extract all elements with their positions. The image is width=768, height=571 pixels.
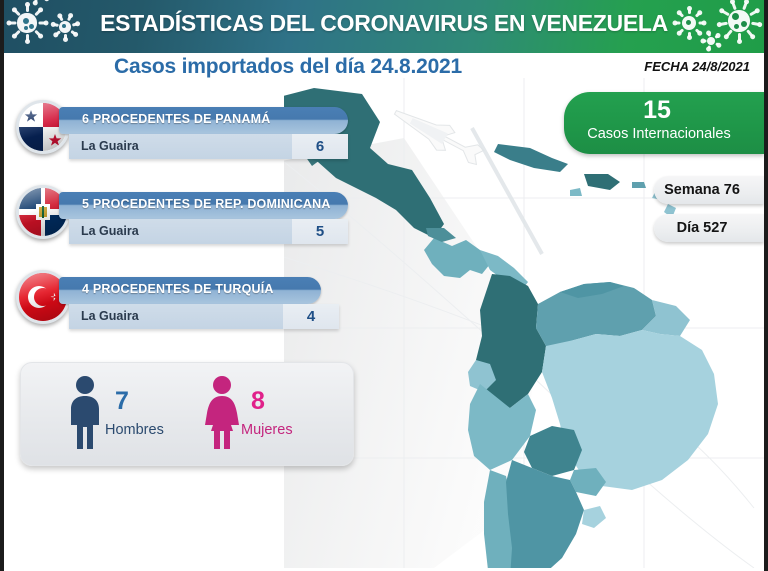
card-row: La Guaira 4 (69, 304, 339, 329)
page-title: ESTADÍSTICAS DEL CORONAVIRUS EN VENEZUEL… (4, 10, 764, 37)
card-row-state: La Guaira (81, 304, 139, 329)
subtitle: Casos importados del día 24.8.2021 (114, 55, 462, 79)
gender-panel: 7 Hombres 8 Mujeres (20, 362, 354, 466)
male-count: 7 (115, 387, 129, 416)
card-header-label: 5 PROCEDENTES DE REP. DOMINICANA (82, 192, 331, 217)
week-pill: Semana 76 (654, 176, 764, 204)
international-cases-box: 15 Casos Internacionales (564, 92, 764, 154)
card-row-state: La Guaira (81, 219, 139, 244)
card-header-bar: 6 PROCEDENTES DE PANAMÁ (59, 107, 348, 134)
infographic-root: ESTADÍSTICAS DEL CORONAVIRUS EN VENEZUEL… (0, 0, 768, 571)
card-row-count: 6 (292, 134, 348, 159)
day-pill: Día 527 (654, 214, 764, 242)
header-banner: ESTADÍSTICAS DEL CORONAVIRUS EN VENEZUEL… (4, 0, 764, 53)
card-header-bar: 4 PROCEDENTES DE TURQUÍA (59, 277, 321, 304)
day-label: Día 527 (654, 214, 750, 242)
date-label: FECHA 24/8/2021 (644, 59, 750, 74)
card-row-count: 5 (292, 219, 348, 244)
card-header-bar: 5 PROCEDENTES DE REP. DOMINICANA (59, 192, 348, 219)
card-header-label: 6 PROCEDENTES DE PANAMÁ (82, 107, 270, 132)
week-label: Semana 76 (654, 176, 750, 204)
virus-icon (30, 0, 46, 2)
female-count: 8 (251, 387, 265, 416)
male-label: Hombres (105, 422, 164, 438)
card-row: La Guaira 5 (69, 219, 348, 244)
international-cases-label: Casos Internacionales (564, 124, 754, 144)
card-row: La Guaira 6 (69, 134, 348, 159)
card-header-label: 4 PROCEDENTES DE TURQUÍA (82, 277, 274, 302)
female-icon (203, 375, 241, 456)
card-row-state: La Guaira (81, 134, 139, 159)
female-label: Mujeres (241, 422, 293, 438)
card-row-count: 4 (283, 304, 339, 329)
male-icon (67, 375, 103, 456)
international-cases-count: 15 (564, 96, 750, 124)
